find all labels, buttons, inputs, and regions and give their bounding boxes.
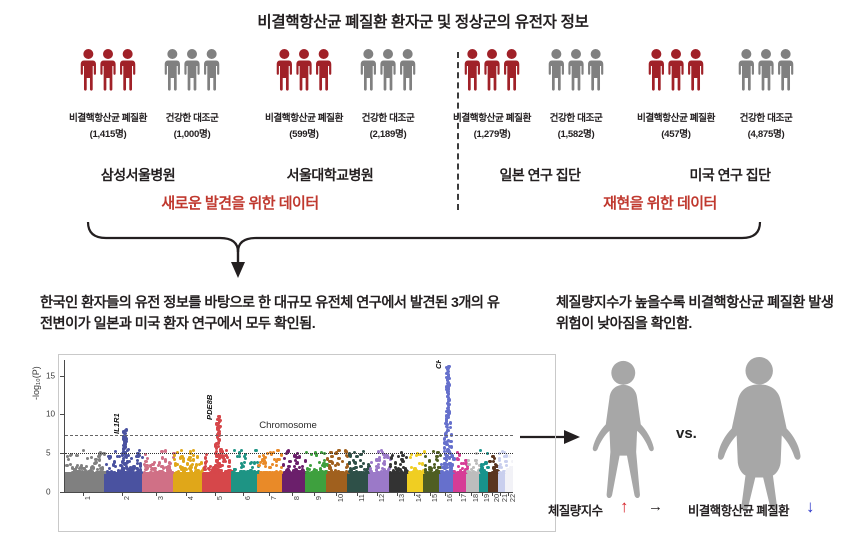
gwas-peak-point	[217, 445, 220, 448]
gwas-point	[472, 466, 475, 469]
gwas-point	[428, 471, 431, 474]
chromosome-block-13	[389, 472, 407, 492]
gwas-point	[233, 449, 236, 452]
gwas-point	[196, 455, 199, 458]
gwas-point	[243, 461, 246, 464]
x-tick-5: 5	[215, 492, 224, 504]
gwas-point	[309, 464, 312, 467]
gwas-point	[328, 460, 331, 463]
gwas-point	[467, 459, 470, 462]
gwas-point	[424, 464, 427, 467]
vs-label: vs.	[676, 425, 697, 442]
gwas-point	[505, 464, 508, 467]
gwas-point	[135, 455, 138, 458]
chromosome-block-17	[453, 472, 466, 492]
bmi-right-term: 비결핵항산균 폐질환	[688, 501, 789, 519]
gene-annotation-chp-prkcb: CHP, PRKCB	[434, 360, 443, 369]
y-tick-0: 0	[46, 488, 51, 497]
gwas-point	[504, 460, 507, 463]
gwas-point	[328, 464, 331, 467]
gwas-point	[440, 470, 443, 473]
y-tick-mark	[60, 492, 64, 493]
section-divider	[457, 52, 459, 210]
gwas-point	[506, 470, 509, 473]
bmi-relation-line: 체질량지수 ↑ → 비결핵항산균 폐질환 ↓	[548, 498, 844, 522]
gwas-point	[304, 459, 307, 462]
group-count-3: (2,189명)	[328, 126, 448, 140]
gwas-point	[382, 462, 385, 465]
gwas-point	[162, 466, 165, 469]
gwas-point	[264, 465, 267, 468]
gwas-point	[200, 461, 203, 464]
chromosome-block-3	[142, 472, 173, 492]
x-tick-6: 6	[243, 492, 252, 504]
x-tick-2: 2	[122, 492, 131, 504]
gwas-point	[456, 457, 459, 460]
chromosome-block-4	[173, 472, 203, 492]
gwas-point	[299, 470, 302, 473]
gwas-point	[354, 462, 357, 465]
control-people-icon	[706, 48, 826, 110]
gwas-point	[249, 469, 252, 472]
gwas-point	[275, 464, 278, 467]
gwas-point	[90, 456, 93, 459]
gwas-point	[81, 470, 84, 473]
gwas-peak-point	[126, 460, 129, 463]
gwas-point	[144, 468, 147, 471]
x-tick-13: 13	[397, 492, 406, 504]
cohort-name-1: 서울대학교병원	[230, 165, 430, 185]
chromosome-block-15	[423, 472, 439, 492]
gwas-point	[240, 466, 243, 469]
x-tick-1: 1	[83, 492, 92, 504]
chromosome-block-21	[498, 472, 505, 492]
gwas-point	[149, 471, 152, 474]
chromosome-block-1	[65, 472, 104, 492]
y-tick-mark	[60, 453, 64, 454]
gwas-point	[243, 455, 246, 458]
gwas-point	[436, 459, 439, 462]
y-tick-5: 5	[46, 449, 51, 458]
chromosome-block-12	[368, 472, 389, 492]
gwas-point	[301, 465, 304, 468]
gwas-point	[243, 471, 246, 474]
gwas-point	[91, 465, 94, 468]
gwas-point	[401, 454, 404, 457]
cohort-name-2: 일본 연구 집단	[450, 165, 630, 185]
y-tick-mark	[60, 376, 64, 377]
chromosome-block-2	[104, 472, 142, 492]
gwas-point	[456, 471, 459, 474]
relation-arrow-icon: →	[648, 498, 663, 515]
cohort-group-3: 건강한 대조군 (2,189명)	[328, 48, 448, 140]
gwas-point	[76, 471, 79, 474]
gwas-point	[488, 460, 491, 463]
finding-text-right: 체질량지수가 높을수록 비결핵항산균 폐질환 발생 위험이 낮아짐을 확인함.	[556, 293, 836, 334]
gwas-point	[355, 455, 358, 458]
gwas-point	[257, 464, 260, 467]
gwas-peak-point	[215, 459, 218, 462]
gwas-point	[131, 468, 134, 471]
gwas-point	[408, 471, 411, 474]
gwas-point	[404, 468, 407, 471]
gwas-point	[445, 470, 448, 473]
gene-annotation-pde8b: PDE8B	[205, 394, 214, 419]
gwas-point	[254, 449, 257, 452]
gwas-point	[101, 466, 104, 469]
gwas-point	[486, 466, 489, 469]
thin-body-icon	[593, 361, 654, 498]
gwas-point	[98, 458, 101, 461]
gwas-point	[375, 465, 378, 468]
gwas-point	[182, 471, 185, 474]
gwas-point	[289, 460, 292, 463]
gwas-point	[283, 457, 286, 460]
gwas-point	[161, 456, 164, 459]
gwas-peak-point	[449, 469, 452, 472]
chromosome-block-7	[257, 472, 282, 492]
x-tick-9: 9	[314, 492, 323, 504]
gwas-point	[139, 462, 142, 465]
group-label-1: 건강한 대조군	[132, 113, 252, 126]
manhattan-plot: -log₁₀(P) IL1R1PDE8BCHP, PRKCB 051015 12…	[44, 360, 514, 545]
gwas-point	[195, 470, 198, 473]
gwas-point	[228, 459, 231, 462]
gwas-point	[276, 458, 279, 461]
gwas-point	[109, 455, 112, 458]
gwas-point	[293, 465, 296, 468]
gwas-point	[298, 466, 301, 469]
gwas-point	[89, 471, 92, 474]
group-label-7: 건강한 대조군	[706, 113, 826, 126]
gwas-point	[341, 460, 344, 463]
gwas-point	[439, 454, 442, 457]
gwas-point	[485, 471, 488, 474]
gwas-point	[370, 461, 373, 464]
gwas-point	[394, 461, 397, 464]
y-tick-mark	[60, 414, 64, 415]
gwas-point	[69, 463, 72, 466]
gwas-peak-point	[447, 365, 450, 368]
gwas-point	[222, 456, 225, 459]
gwas-point	[474, 459, 477, 462]
gwas-point	[144, 460, 147, 463]
infographic-root: 비결핵항산균 폐질환 환자군 및 정상군의 유전자 정보 비결핵항산균 폐질환 …	[0, 0, 846, 548]
gwas-point	[173, 454, 176, 457]
gwas-point	[192, 458, 195, 461]
gwas-point	[180, 449, 183, 452]
x-tick-12: 12	[377, 492, 386, 504]
gwas-point	[108, 467, 111, 470]
gwas-point	[345, 466, 348, 469]
gwas-point	[86, 457, 89, 460]
y-tick-10: 10	[46, 410, 55, 419]
gwas-point	[409, 456, 412, 459]
gwas-point	[330, 469, 333, 472]
gwas-point	[204, 456, 207, 459]
genomewide-significance-line	[65, 435, 513, 436]
chromosome-block-5	[202, 472, 230, 492]
gwas-point	[205, 460, 208, 463]
gwas-point	[330, 455, 333, 458]
gwas-point	[359, 465, 362, 468]
gwas-point	[493, 457, 496, 460]
cohort-name-0: 삼성서울병원	[48, 165, 228, 185]
gwas-point	[508, 455, 511, 458]
gwas-point	[362, 462, 365, 465]
control-people-icon	[328, 48, 448, 110]
bmi-up-arrow-icon: ↑	[620, 497, 628, 517]
gwas-point	[381, 467, 384, 470]
chromosome-block-9	[305, 472, 327, 492]
gwas-point	[82, 449, 85, 452]
gwas-point	[276, 449, 279, 452]
gwas-point	[353, 471, 356, 474]
x-tick-16: 16	[445, 492, 454, 504]
chromosome-block-11	[347, 472, 368, 492]
gwas-point	[168, 471, 171, 474]
x-tick-3: 3	[156, 492, 165, 504]
gwas-point	[337, 457, 340, 460]
gwas-point	[96, 471, 99, 474]
gwas-point	[153, 461, 156, 464]
chromosome-block-22	[505, 472, 513, 492]
cohort-group-7: 건강한 대조군 (4,875명)	[706, 48, 826, 140]
gwas-point	[405, 456, 408, 459]
gwas-point	[391, 454, 394, 457]
gwas-point	[253, 461, 256, 464]
group-count-1: (1,000명)	[132, 126, 252, 140]
gwas-point	[279, 470, 282, 473]
gwas-point	[424, 455, 427, 458]
gwas-point	[428, 459, 431, 462]
suggestive-significance-line	[65, 453, 513, 454]
group-label-3: 건강한 대조군	[328, 113, 448, 126]
gwas-point	[67, 458, 70, 461]
gwas-point	[457, 465, 460, 468]
gwas-point	[105, 463, 108, 466]
gwas-point	[189, 471, 192, 474]
gwas-point	[182, 459, 185, 462]
gwas-point	[468, 471, 471, 474]
gwas-point	[84, 471, 87, 474]
gwas-point	[209, 471, 212, 474]
finding-text-left: 한국인 환자들의 유전 정보를 바탕으로 한 대규모 유전체 연구에서 발견된 …	[40, 293, 510, 334]
gwas-point	[116, 455, 119, 458]
x-tick-8: 8	[292, 492, 301, 504]
gwas-point	[192, 454, 195, 457]
gwas-point	[112, 463, 115, 466]
gwas-peak-point	[448, 462, 451, 465]
x-tick-22: 22	[508, 492, 517, 504]
gwas-point	[179, 456, 182, 459]
gwas-point	[138, 449, 141, 452]
gwas-point	[173, 458, 176, 461]
gwas-point	[479, 449, 482, 452]
gwas-point	[97, 455, 100, 458]
gwas-point	[195, 463, 198, 466]
y-tick-15: 15	[46, 371, 55, 380]
gwas-peak-point	[443, 446, 446, 449]
x-tick-17: 17	[459, 492, 468, 504]
gwas-point	[269, 471, 272, 474]
gwas-point	[224, 470, 227, 473]
gwas-peak-point	[214, 464, 217, 467]
x-tick-15: 15	[430, 492, 439, 504]
gwas-point	[461, 467, 464, 470]
bmi-down-arrow-icon: ↓	[806, 497, 814, 517]
gwas-point	[310, 471, 313, 474]
caption-replication: 재현을 위한 데이터	[510, 192, 810, 213]
x-tick-11: 11	[357, 492, 366, 504]
gwas-point	[383, 470, 386, 473]
x-tick-14: 14	[414, 492, 423, 504]
gwas-point	[459, 471, 462, 474]
gwas-point	[503, 455, 506, 458]
cohort-group-1: 건강한 대조군 (1,000명)	[132, 48, 252, 140]
page-title: 비결핵항산균 폐질환 환자군 및 정상군의 유전자 정보	[0, 10, 846, 32]
gwas-point	[415, 469, 418, 472]
gwas-point	[435, 455, 438, 458]
x-tick-19: 19	[482, 492, 491, 504]
gwas-point	[285, 469, 288, 472]
y-axis-label: -log₁₀(P)	[31, 366, 41, 400]
gwas-point	[143, 463, 146, 466]
gwas-point	[225, 449, 228, 452]
gwas-point	[401, 460, 404, 463]
gwas-point	[227, 465, 230, 468]
gwas-point	[238, 455, 241, 458]
gwas-point	[268, 466, 271, 469]
gwas-point	[141, 456, 144, 459]
gwas-point	[240, 449, 243, 452]
gwas-point	[288, 470, 291, 473]
gwas-point	[500, 466, 503, 469]
gwas-point	[294, 468, 297, 471]
bmi-left-term: 체질량지수	[548, 501, 603, 519]
gwas-peak-point	[443, 467, 446, 470]
chromosome-block-8	[282, 472, 305, 492]
gwas-point	[190, 464, 193, 467]
cohort-name-3: 미국 연구 집단	[640, 165, 820, 185]
x-tick-10: 10	[336, 492, 345, 504]
gwas-point	[399, 469, 402, 472]
chromosome-block-20	[488, 472, 498, 492]
gwas-point	[135, 471, 138, 474]
gwas-point	[75, 454, 78, 457]
x-tick-7: 7	[269, 492, 278, 504]
gwas-point	[383, 456, 386, 459]
x-tick-4: 4	[186, 492, 195, 504]
chromosome-block-14	[407, 472, 424, 492]
gwas-point	[338, 471, 341, 474]
group-count-7: (4,875명)	[706, 126, 826, 140]
gwas-point	[80, 467, 83, 470]
chromosome-block-10	[326, 472, 347, 492]
chromosome-block-19	[479, 472, 488, 492]
x-axis-label: Chromosome	[64, 420, 512, 431]
gwas-point	[258, 455, 261, 458]
gwas-peak-point	[446, 448, 449, 451]
caption-discovery: 새로운 발견을 위한 데이터	[60, 192, 420, 213]
gwas-point	[375, 458, 378, 461]
chromosome-block-6	[231, 472, 258, 492]
gwas-point	[511, 460, 513, 463]
gwas-point	[181, 466, 184, 469]
heavy-body-icon	[718, 357, 801, 510]
chromosome-block-18	[466, 472, 478, 492]
control-people-icon	[132, 48, 252, 110]
gwas-point	[246, 471, 249, 474]
gwas-peak-point	[448, 456, 451, 459]
x-tick-18: 18	[471, 492, 480, 504]
gwas-point	[174, 464, 177, 467]
gwas-point	[397, 455, 400, 458]
gwas-point	[164, 459, 167, 462]
chromosome-block-16	[439, 472, 453, 492]
gwas-point	[348, 461, 351, 464]
gwas-point	[318, 471, 321, 474]
gwas-point	[394, 466, 397, 469]
gwas-peak-point	[217, 415, 220, 418]
